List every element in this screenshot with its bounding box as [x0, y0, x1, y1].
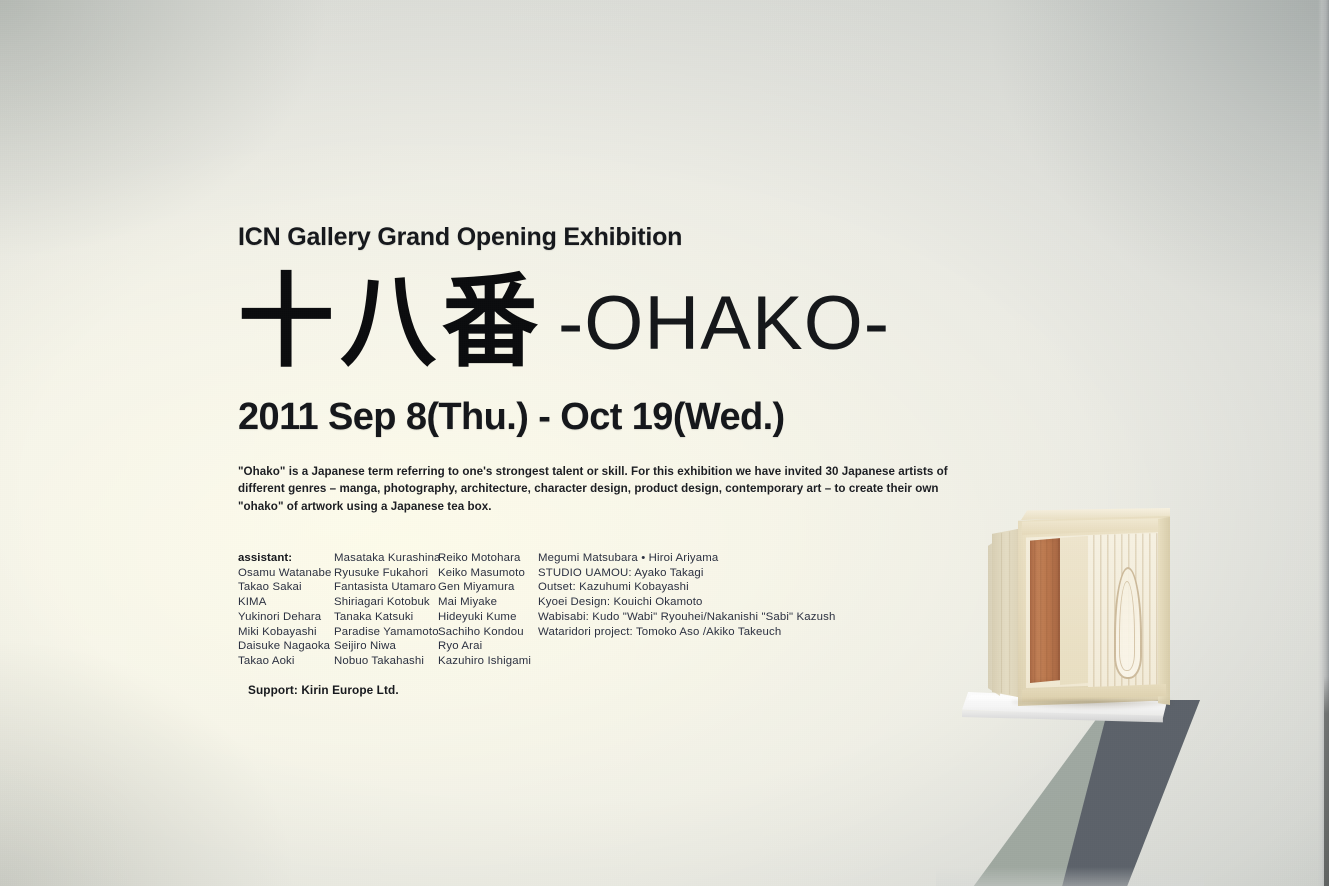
- credits-entry: Takao Aoki: [238, 654, 334, 669]
- credits-entry: Daisuke Nagaoka: [238, 639, 334, 654]
- title-kanji: 十八番: [238, 271, 544, 373]
- credits-entry: KIMA: [238, 595, 334, 610]
- credits-entry: Tanaka Katsuki: [334, 610, 438, 625]
- wall-far-room-edge: [1324, 676, 1329, 886]
- credits-entry: Masataka Kurashina: [334, 551, 438, 566]
- credits-entry: Osamu Watanabe: [238, 566, 334, 581]
- credits-entry: Keiko Masumoto: [438, 566, 538, 581]
- exhibition-title: 十八番 -OHAKO-: [238, 268, 998, 376]
- credits-column-1: assistant: Osamu Watanabe Takao Sakai KI…: [238, 551, 334, 669]
- gallery-kicker: ICN Gallery Grand Opening Exhibition: [238, 224, 998, 252]
- credits-entry: Seijiro Niwa: [334, 639, 438, 654]
- credits-entry: Megumi Matsubara • Hiroi Ariyama: [538, 551, 858, 566]
- credits-entry: Shiriagari Kotobuk: [334, 595, 438, 610]
- credits-entry: Sachiho Kondou: [438, 625, 538, 640]
- gallery-photograph: ICN Gallery Grand Opening Exhibition 十八番…: [0, 0, 1329, 886]
- box-plain-panel: [1060, 535, 1090, 685]
- shelf-cast-shadow: [940, 700, 1200, 886]
- credits-entry: Kazuhiro Ishigami: [438, 654, 538, 669]
- credits-entry: Wabisabi: Kudo "Wabi" Ryouhei/Nakanishi …: [538, 610, 858, 625]
- credits-entry: Hideyuki Kume: [438, 610, 538, 625]
- box-red-strip-grain: [1030, 537, 1060, 683]
- exhibition-text-panel: ICN Gallery Grand Opening Exhibition 十八番…: [238, 224, 998, 516]
- credits-entry: Mai Miyake: [438, 595, 538, 610]
- credits-block: assistant: Osamu Watanabe Takao Sakai KI…: [238, 551, 858, 669]
- credits-entry: Ryo Arai: [438, 639, 538, 654]
- credits-entry: Paradise Yamamoto: [334, 625, 438, 640]
- credits-heading-assistant: assistant:: [238, 551, 334, 566]
- exhibition-blurb: "Ohako" is a Japanese term referring to …: [238, 463, 950, 517]
- credits-entry: Nobuo Takahashi: [334, 654, 438, 669]
- credits-column-2: Masataka Kurashina Ryusuke Fukahori Fant…: [334, 551, 438, 669]
- box-contact-shadow: [1012, 700, 1172, 710]
- credits-entry: Miki Kobayashi: [238, 625, 334, 640]
- credits-entry: Kyoei Design: Kouichi Okamoto: [538, 595, 858, 610]
- support-line: Support: Kirin Europe Ltd.: [248, 683, 399, 697]
- credits-entry: Yukinori Dehara: [238, 610, 334, 625]
- wooden-tea-box-sculpture: [992, 514, 1172, 710]
- credits-entry: Wataridori project: Tomoko Aso /Akiko Ta…: [538, 625, 858, 640]
- credits-entry: STUDIO UAMOU: Ayako Takagi: [538, 566, 858, 581]
- credits-entry: Gen Miyamura: [438, 580, 538, 595]
- credits-entry: Ryusuke Fukahori: [334, 566, 438, 581]
- credits-entry: Takao Sakai: [238, 580, 334, 595]
- credits-column-4: Megumi Matsubara • Hiroi Ariyama STUDIO …: [538, 551, 858, 639]
- title-romaji: -OHAKO-: [558, 286, 890, 362]
- exhibition-dates: 2011 Sep 8(Thu.) - Oct 19(Wed.): [238, 396, 998, 439]
- credits-entry: Outset: Kazuhumi Kobayashi: [538, 580, 858, 595]
- credits-entry: Reiko Motohara: [438, 551, 538, 566]
- box-frame-right: [1158, 517, 1170, 705]
- credits-entry: Fantasista Utamaro: [334, 580, 438, 595]
- credits-column-3: Reiko Motohara Keiko Masumoto Gen Miyamu…: [438, 551, 538, 669]
- box-grained-panel: [1088, 533, 1162, 687]
